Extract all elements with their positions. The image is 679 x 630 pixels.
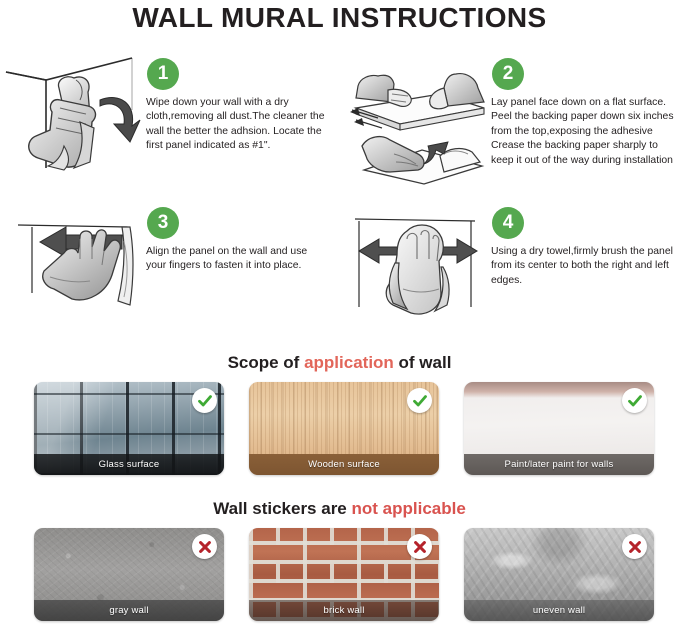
- heading-prefix: Wall stickers are: [213, 499, 351, 518]
- surface-card-wooden: Wooden surface: [249, 382, 439, 475]
- heading-accent: application: [304, 353, 394, 372]
- check-mark-icon: [192, 388, 217, 413]
- cross-mark-icon: [192, 534, 217, 559]
- applicable-heading: Scope of application of wall: [0, 353, 679, 373]
- not-applicable-heading: Wall stickers are not applicable: [0, 499, 679, 519]
- step-text-4: Using a dry towel,firmly brush the panel…: [491, 245, 677, 288]
- step-number: 4: [503, 212, 514, 234]
- surface-caption: Wooden surface: [249, 454, 439, 475]
- hands-peeling-backing-paper-icon: [344, 50, 489, 190]
- check-mark-icon: [622, 388, 647, 413]
- page-title: WALL MURAL INSTRUCTIONS: [0, 2, 679, 34]
- step-number: 3: [158, 212, 169, 234]
- step-number: 2: [503, 63, 514, 85]
- surface-card-gray-wall: gray wall: [34, 528, 224, 621]
- step-1: 1 Wipe down your wall with a dry cloth,r…: [0, 48, 335, 193]
- step-4: 4 Using a dry towel,firmly brush the pan…: [340, 193, 679, 323]
- surface-card-brick-wall: brick wall: [249, 528, 439, 621]
- surface-caption: Paint/later paint for walls: [464, 454, 654, 475]
- surface-caption: uneven wall: [464, 600, 654, 621]
- hand-brushing-panel-with-towel-icon: [345, 197, 485, 322]
- surface-caption: gray wall: [34, 600, 224, 621]
- surface-card-uneven-wall: uneven wall: [464, 528, 654, 621]
- surface-caption: Glass surface: [34, 454, 224, 475]
- heading-suffix: of wall: [394, 353, 452, 372]
- surface-caption: brick wall: [249, 600, 439, 621]
- step-3: 3 Align the panel on the wall and use yo…: [0, 193, 335, 323]
- step-badge-4: 4: [492, 207, 524, 239]
- heading-prefix: Scope of: [228, 353, 305, 372]
- hand-aligning-panel-on-wall-icon: [10, 197, 145, 317]
- step-text-2: Lay panel face down on a flat surface. P…: [491, 96, 677, 168]
- step-number: 1: [158, 63, 169, 85]
- step-text-1: Wipe down your wall with a dry cloth,rem…: [146, 96, 326, 154]
- wall-mural-instruction-sheet: WALL MURAL INSTRUCTIONS: [0, 0, 679, 630]
- check-mark-icon: [407, 388, 432, 413]
- step-2: 2 Lay panel face down on a flat surface.…: [340, 48, 679, 193]
- step-badge-2: 2: [492, 58, 524, 90]
- surface-card-glass: Glass surface: [34, 382, 224, 475]
- heading-accent: not applicable: [352, 499, 466, 518]
- step-text-3: Align the panel on the wall and use your…: [146, 245, 326, 274]
- step-badge-1: 1: [147, 58, 179, 90]
- cross-mark-icon: [407, 534, 432, 559]
- step-badge-3: 3: [147, 207, 179, 239]
- surface-card-paint: Paint/later paint for walls: [464, 382, 654, 475]
- cross-mark-icon: [622, 534, 647, 559]
- hand-wiping-wall-with-cloth-icon: [4, 50, 144, 190]
